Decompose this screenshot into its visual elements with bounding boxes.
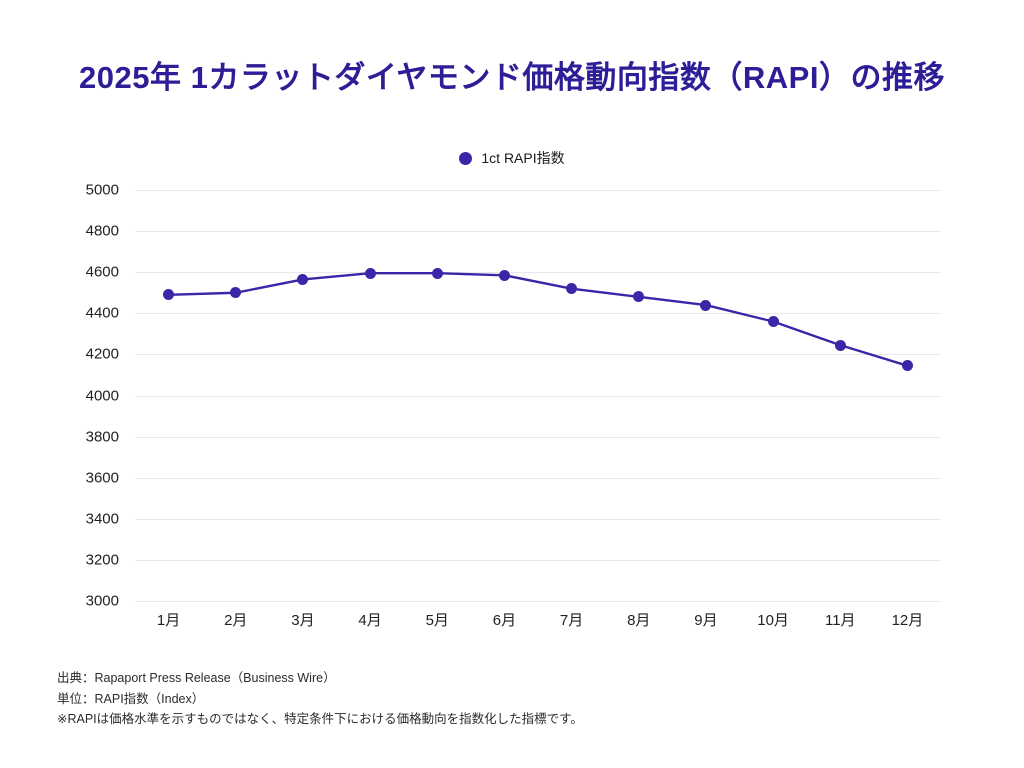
footnote-unit: 単位：RAPI指数（Index） — [57, 689, 583, 710]
data-point-marker — [768, 316, 779, 327]
series-line — [169, 273, 908, 365]
data-point-marker — [499, 270, 510, 281]
footnote-source: 出典：Rapaport Press Release（Business Wire） — [57, 668, 583, 689]
line-chart: 3000320034003600380040004200440046004800… — [0, 0, 1024, 768]
data-point-marker — [700, 300, 711, 311]
footnote-note: ※RAPIは価格水準を示すものではなく、特定条件下における価格動向を指数化した指… — [57, 709, 583, 730]
data-point-marker — [365, 268, 376, 279]
footnotes: 出典：Rapaport Press Release（Business Wire）… — [57, 668, 583, 730]
data-point-marker — [432, 268, 443, 279]
data-point-marker — [835, 340, 846, 351]
series-lines — [0, 0, 1024, 768]
